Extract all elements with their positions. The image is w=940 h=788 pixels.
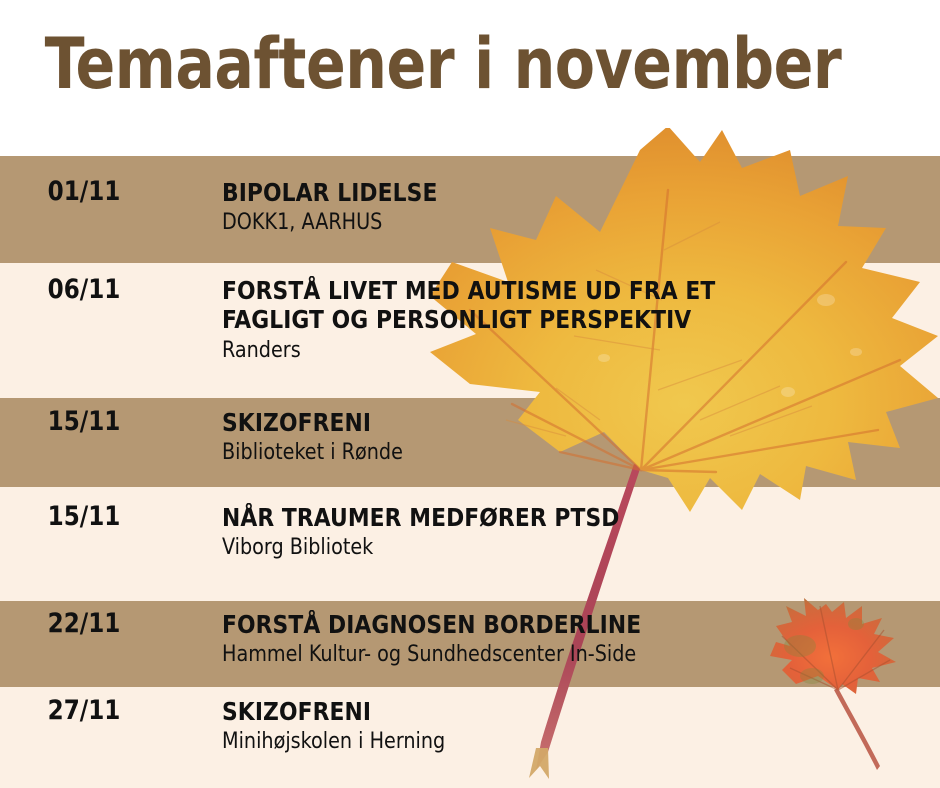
event-title: NÅR TRAUMER MEDFØRER PTSD	[222, 503, 918, 532]
event-place: Viborg Bibliotek	[222, 535, 918, 561]
event-info: SKIZOFRENI Minihøjskolen i Herning	[168, 697, 940, 756]
event-date: 15/11	[4, 408, 164, 435]
event-date: 27/11	[4, 697, 164, 724]
event-place: Randers	[222, 338, 918, 364]
event-date: 15/11	[4, 503, 164, 530]
event-info: SKIZOFRENI Biblioteket i Rønde	[168, 408, 940, 467]
event-place: Hammel Kultur- og Sundhedscenter In-Side	[222, 642, 918, 668]
event-row[interactable]: 01/11 BIPOLAR LIDELSE DOKK1, AARHUS	[0, 178, 940, 237]
event-row[interactable]: 22/11 FORSTÅ DIAGNOSEN BORDERLINE Hammel…	[0, 610, 940, 669]
event-info: FORSTÅ DIAGNOSEN BORDERLINE Hammel Kultu…	[168, 610, 940, 669]
event-place: Biblioteket i Rønde	[222, 440, 918, 466]
event-row[interactable]: 06/11 FORSTÅ LIVET MED AUTISME UD FRA ET…	[0, 276, 940, 364]
event-title: BIPOLAR LIDELSE	[222, 178, 918, 207]
event-date: 22/11	[4, 610, 164, 637]
event-info: FORSTÅ LIVET MED AUTISME UD FRA ET FAGLI…	[168, 276, 940, 364]
event-row[interactable]: 15/11 NÅR TRAUMER MEDFØRER PTSD Viborg B…	[0, 503, 940, 562]
page-title: Temaaftener i november	[0, 29, 841, 99]
event-place: DOKK1, AARHUS	[222, 210, 918, 236]
poster-canvas: Temaaftener i november 01/11 BIPOLAR LID…	[0, 0, 940, 788]
event-row[interactable]: 27/11 SKIZOFRENI Minihøjskolen i Herning	[0, 697, 940, 756]
event-title: SKIZOFRENI	[222, 408, 918, 437]
title-area: Temaaftener i november	[0, 0, 940, 128]
event-info: NÅR TRAUMER MEDFØRER PTSD Viborg Bibliot…	[168, 503, 940, 562]
event-row[interactable]: 15/11 SKIZOFRENI Biblioteket i Rønde	[0, 408, 940, 467]
event-title: FORSTÅ LIVET MED AUTISME UD FRA ET FAGLI…	[222, 276, 918, 335]
event-place: Minihøjskolen i Herning	[222, 729, 918, 755]
event-date: 01/11	[4, 178, 164, 205]
event-date: 06/11	[4, 276, 164, 303]
event-info: BIPOLAR LIDELSE DOKK1, AARHUS	[168, 178, 940, 237]
event-title: SKIZOFRENI	[222, 697, 918, 726]
event-title: FORSTÅ DIAGNOSEN BORDERLINE	[222, 610, 918, 639]
